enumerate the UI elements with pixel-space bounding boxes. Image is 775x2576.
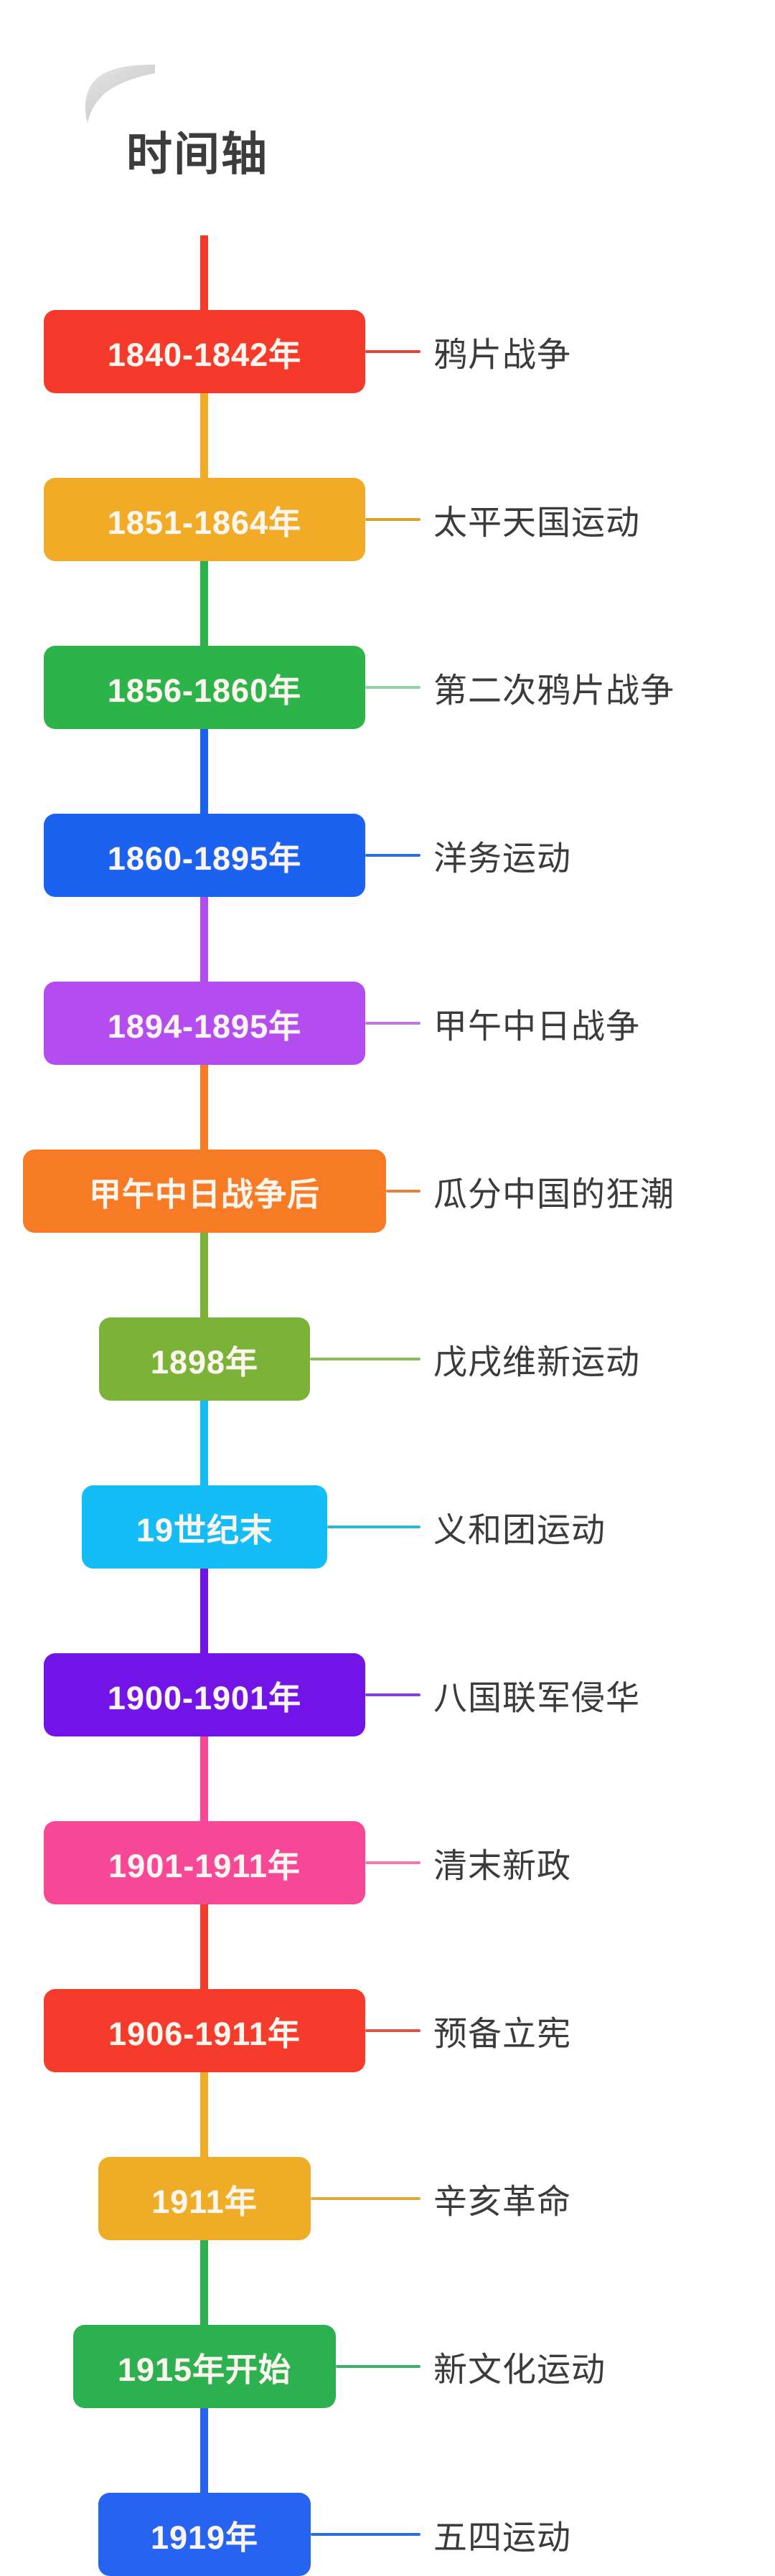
timeline-spine-segment: [200, 2404, 208, 2497]
timeline-item[interactable]: 1915年开始新文化运动: [0, 2325, 775, 2408]
timeline-connector-line: [365, 1861, 421, 1864]
timeline-connector-line: [311, 2533, 421, 2536]
timeline-period-text: 1911年: [151, 2176, 258, 2222]
timeline-period-text: 1860-1895年: [108, 832, 301, 879]
timeline-connector-line: [365, 2029, 421, 2032]
timeline-event-label: 辛亥革命: [433, 2174, 571, 2224]
timeline-item[interactable]: 1898年戊戌维新运动: [0, 1317, 775, 1401]
timeline-spine-segment: [200, 1061, 208, 1154]
timeline-connector-line: [365, 686, 421, 689]
timeline-connector-line: [311, 2197, 421, 2200]
timeline-connector-line: [365, 518, 421, 521]
timeline-item[interactable]: 1840-1842年鸦片战争: [0, 310, 775, 393]
timeline-item[interactable]: 1851-1864年太平天国运动: [0, 478, 775, 561]
timeline-period-badge[interactable]: 1856-1860年: [44, 646, 365, 729]
timeline-connector-line: [365, 854, 421, 857]
timeline-connector-line: [336, 2365, 421, 2368]
timeline-spine-segment: [200, 235, 208, 314]
timeline-event-label: 瓜分中国的狂潮: [433, 1167, 675, 1216]
timeline-period-badge[interactable]: 1901-1911年: [44, 1821, 365, 1904]
timeline-item[interactable]: 1906-1911年预备立宪: [0, 1989, 775, 2072]
timeline-spine-segment: [200, 2068, 208, 2161]
timeline-event-label: 太平天国运动: [433, 495, 640, 545]
timeline-period-text: 1919年: [151, 2511, 258, 2558]
timeline-item[interactable]: 1919年五四运动: [0, 2493, 775, 2576]
timeline-period-badge[interactable]: 1894-1895年: [44, 982, 365, 1065]
timeline-period-text: 1840-1842年: [108, 329, 301, 375]
timeline-event-label: 清末新政: [433, 1838, 571, 1888]
timeline-period-text: 1906-1911年: [108, 2008, 301, 2054]
timeline-period-text: 1898年: [151, 1336, 258, 1383]
timeline-event-label: 八国联军侵华: [433, 1670, 640, 1720]
timeline-spine-segment: [200, 2236, 208, 2329]
timeline-period-text: 甲午中日战争后: [89, 1168, 320, 1215]
timeline-connector-line: [365, 1693, 421, 1696]
timeline-event-label: 预备立宪: [433, 2006, 571, 2056]
timeline-event-label: 义和团运动: [433, 1503, 606, 1552]
timeline-period-badge[interactable]: 1840-1842年: [44, 310, 365, 393]
timeline-period-text: 1894-1895年: [108, 1000, 301, 1047]
timeline-period-text: 1856-1860年: [108, 664, 301, 711]
timeline-connector-line: [386, 1190, 421, 1193]
timeline: 1840-1842年鸦片战争1851-1864年太平天国运动1856-1860年…: [0, 0, 775, 2532]
timeline-spine-segment: [200, 1564, 208, 1658]
timeline-period-text: 1901-1911年: [108, 1840, 301, 1886]
timeline-event-label: 第二次鸦片战争: [433, 663, 675, 713]
timeline-period-text: 1851-1864年: [108, 497, 301, 543]
timeline-item[interactable]: 1901-1911年清末新政: [0, 1821, 775, 1904]
timeline-spine-segment: [200, 1732, 208, 1825]
timeline-period-badge[interactable]: 1898年: [99, 1317, 310, 1401]
timeline-spine-segment: [200, 893, 208, 986]
timeline-item[interactable]: 1911年辛亥革命: [0, 2157, 775, 2240]
timeline-period-badge[interactable]: 1911年: [98, 2157, 311, 2240]
timeline-item[interactable]: 1860-1895年洋务运动: [0, 814, 775, 897]
timeline-connector-line: [327, 1526, 421, 1528]
timeline-period-badge[interactable]: 19世纪末: [82, 1485, 327, 1569]
timeline-period-badge[interactable]: 1906-1911年: [44, 1989, 365, 2072]
timeline-spine-segment: [200, 557, 208, 650]
timeline-item[interactable]: 1894-1895年甲午中日战争: [0, 982, 775, 1065]
timeline-period-text: 1915年开始: [118, 2344, 291, 2390]
timeline-spine-segment: [200, 1900, 208, 1993]
timeline-item[interactable]: 1900-1901年八国联军侵华: [0, 1653, 775, 1736]
timeline-item[interactable]: 19世纪末义和团运动: [0, 1485, 775, 1569]
timeline-spine-segment: [200, 725, 208, 818]
timeline-period-text: 19世纪末: [136, 1504, 273, 1551]
timeline-spine-segment: [200, 1228, 208, 1322]
timeline-period-badge[interactable]: 1860-1895年: [44, 814, 365, 897]
timeline-connector-line: [365, 350, 421, 353]
timeline-period-badge[interactable]: 甲午中日战争后: [23, 1150, 386, 1233]
timeline-spine-segment: [200, 389, 208, 482]
timeline-period-text: 1900-1901年: [108, 1672, 301, 1719]
timeline-period-badge[interactable]: 1919年: [98, 2493, 311, 2576]
timeline-event-label: 戊戌维新运动: [433, 1335, 640, 1384]
timeline-period-badge[interactable]: 1851-1864年: [44, 478, 365, 561]
timeline-period-badge[interactable]: 1900-1901年: [44, 1653, 365, 1736]
timeline-event-label: 五四运动: [433, 2510, 571, 2559]
timeline-event-label: 甲午中日战争: [433, 999, 640, 1048]
timeline-period-badge[interactable]: 1915年开始: [73, 2325, 336, 2408]
timeline-event-label: 新文化运动: [433, 2342, 606, 2392]
timeline-connector-line: [365, 1022, 421, 1025]
timeline-event-label: 鸦片战争: [433, 327, 571, 377]
timeline-item[interactable]: 1856-1860年第二次鸦片战争: [0, 646, 775, 729]
timeline-item[interactable]: 甲午中日战争后瓜分中国的狂潮: [0, 1150, 775, 1233]
timeline-spine-segment: [200, 1396, 208, 1490]
timeline-event-label: 洋务运动: [433, 831, 571, 880]
timeline-connector-line: [310, 1358, 421, 1360]
